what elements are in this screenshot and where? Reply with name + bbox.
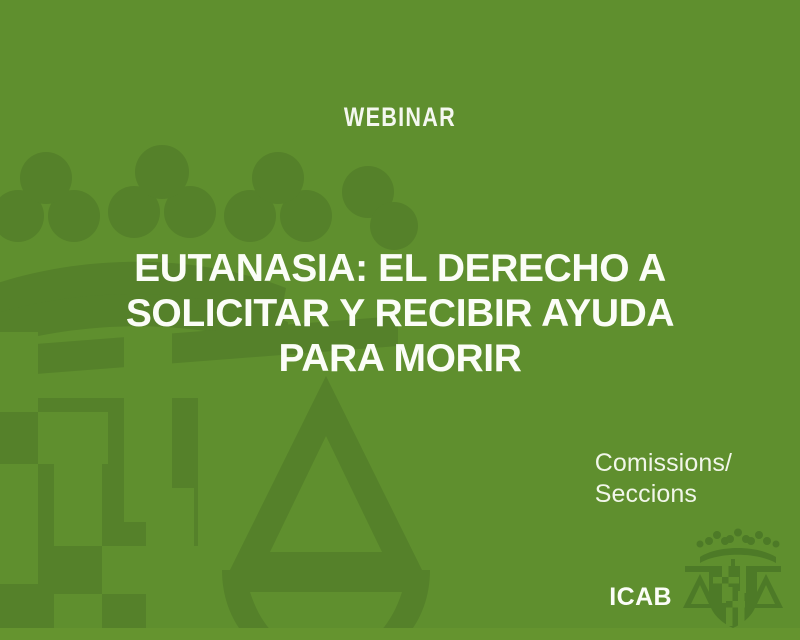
poster-canvas: WEBINAR EUTANASIA: EL DERECHO A SOLICITA… <box>0 0 800 640</box>
icab-crest-watermark-icon <box>0 140 438 640</box>
page-title-line-1: EUTANASIA: EL DERECHO A <box>60 246 740 291</box>
commissions-line-2: Seccions <box>595 479 732 510</box>
kicker-label: WEBINAR <box>80 104 720 131</box>
icab-crest-icon <box>678 528 788 632</box>
icab-wordmark: ICAB <box>609 585 678 632</box>
commissions-label: Comissions/ Seccions <box>595 448 732 510</box>
page-title: EUTANASIA: EL DERECHO A SOLICITAR Y RECI… <box>60 246 740 381</box>
page-title-line-3: PARA MORIR <box>60 336 740 381</box>
icab-logo-lockup: ICAB <box>609 528 788 632</box>
commissions-line-1: Comissions/ <box>595 448 732 479</box>
page-title-line-2: SOLICITAR Y RECIBIR AYUDA <box>60 291 740 336</box>
